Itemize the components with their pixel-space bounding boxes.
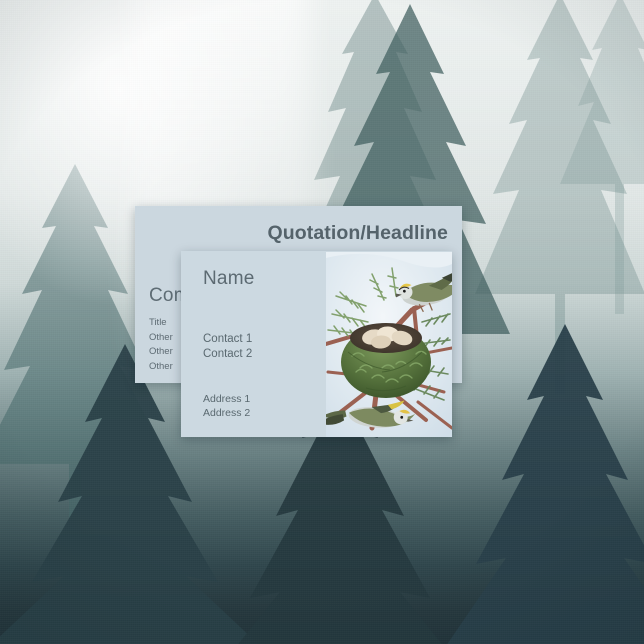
card-line-other-3: Other (149, 360, 173, 375)
business-card-front[interactable]: Name Contact 1 Contact 2 Address 1 Addre… (181, 251, 452, 437)
card-contact-2: Contact 2 (203, 347, 252, 362)
screenshot-stage: Quotation/Headline Company Title Other O… (0, 0, 644, 644)
card-line-title: Title (149, 316, 173, 331)
card-line-other-2: Other (149, 345, 173, 360)
card-address-block: Address 1 Address 2 (203, 392, 250, 420)
bird-nest-illustration (326, 252, 452, 437)
card-contact-block: Contact 1 Contact 2 (203, 332, 252, 362)
card-contact-1: Contact 1 (203, 332, 252, 347)
conifer-tree-distant-3 (560, 0, 644, 314)
card-address-1: Address 1 (203, 392, 250, 406)
card-artwork-bird-nest (326, 252, 452, 437)
card-headline: Quotation/Headline (267, 222, 448, 245)
card-name: Name (203, 268, 254, 290)
card-line-other-1: Other (149, 331, 173, 346)
card-detail-lines: Title Other Other Other (149, 316, 173, 374)
card-address-2: Address 2 (203, 406, 250, 420)
